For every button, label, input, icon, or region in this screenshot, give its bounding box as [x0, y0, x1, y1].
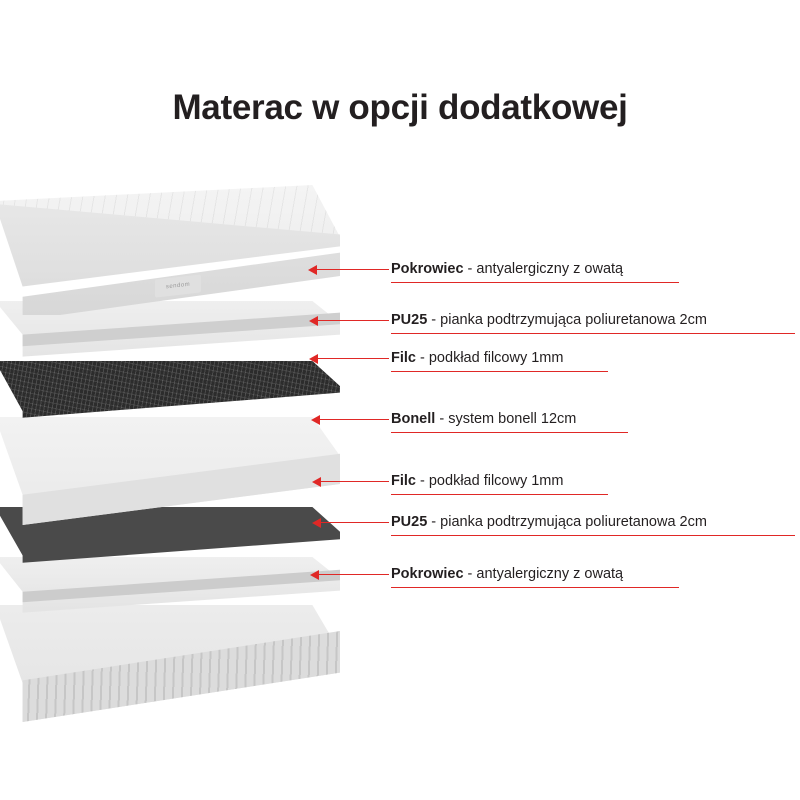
callout-term-filc-bottom: Filc: [391, 473, 416, 489]
callout-desc-filc-top: - podkład filcowy 1mm: [416, 350, 563, 366]
arrow-pu25-bottom: [312, 518, 321, 528]
callout-desc-pu25-top: - pianka podtrzymująca poliuretanowa 2cm: [427, 312, 707, 328]
callout-desc-pokrowiec-top: - antyalergiczny z owatą: [464, 261, 624, 277]
mattress-stack-illustration: sendom: [0, 185, 350, 615]
leader-pu25-bottom: [321, 522, 389, 523]
callout-pu25-bottom: PU25 - pianka podtrzymująca poliuretanow…: [391, 515, 707, 530]
leader-filc-bottom: [321, 481, 389, 482]
diagram-canvas: Materac w opcji dodatkowej: [0, 0, 800, 800]
page-title: Materac w opcji dodatkowej: [0, 88, 800, 128]
leader-pu25-top: [318, 320, 389, 321]
callout-term-pokrowiec-bottom: Pokrowiec: [391, 566, 464, 582]
underline-pokrowiec-top: [391, 282, 679, 283]
callout-desc-bonell: - system bonell 12cm: [435, 411, 576, 427]
underline-pu25-bottom: [391, 535, 795, 536]
underline-pokrowiec-bottom: [391, 587, 679, 588]
underline-pu25-top: [391, 333, 795, 334]
leader-pokrowiec-top: [317, 269, 389, 270]
arrow-pokrowiec-bottom: [310, 570, 319, 580]
callout-bonell: Bonell - system bonell 12cm: [391, 412, 576, 427]
callout-desc-filc-bottom: - podkład filcowy 1mm: [416, 473, 563, 489]
callout-term-pu25-bottom: PU25: [391, 514, 427, 530]
underline-bonell: [391, 432, 628, 433]
callout-term-pu25-top: PU25: [391, 312, 427, 328]
leader-bonell: [320, 419, 389, 420]
layer-felt-top: [0, 361, 340, 431]
callout-desc-pu25-bottom: - pianka podtrzymująca poliuretanowa 2cm: [427, 514, 707, 530]
layer-bonell: [0, 417, 340, 527]
leader-pokrowiec-bottom: [319, 574, 389, 575]
callout-term-pokrowiec-top: Pokrowiec: [391, 261, 464, 277]
felt-top-texture: [0, 361, 340, 427]
callout-filc-top: Filc - podkład filcowy 1mm: [391, 351, 563, 366]
callout-pu25-top: PU25 - pianka podtrzymująca poliuretanow…: [391, 313, 707, 328]
arrow-bonell: [311, 415, 320, 425]
callout-desc-pokrowiec-bottom: - antyalergiczny z owatą: [464, 566, 624, 582]
arrow-pokrowiec-top: [308, 265, 317, 275]
callout-term-bonell: Bonell: [391, 411, 435, 427]
leader-filc-top: [318, 358, 389, 359]
arrow-pu25-top: [309, 316, 318, 326]
layer-cover-bottom: [0, 605, 340, 745]
callout-term-filc-top: Filc: [391, 350, 416, 366]
arrow-filc-bottom: [312, 477, 321, 487]
callout-pokrowiec-bottom: Pokrowiec - antyalergiczny z owatą: [391, 567, 623, 582]
callout-filc-bottom: Filc - podkład filcowy 1mm: [391, 474, 563, 489]
underline-filc-top: [391, 371, 608, 372]
underline-filc-bottom: [391, 494, 608, 495]
layer-cover-top: sendom: [0, 185, 340, 305]
arrow-filc-top: [309, 354, 318, 364]
callout-pokrowiec-top: Pokrowiec - antyalergiczny z owatą: [391, 262, 623, 277]
